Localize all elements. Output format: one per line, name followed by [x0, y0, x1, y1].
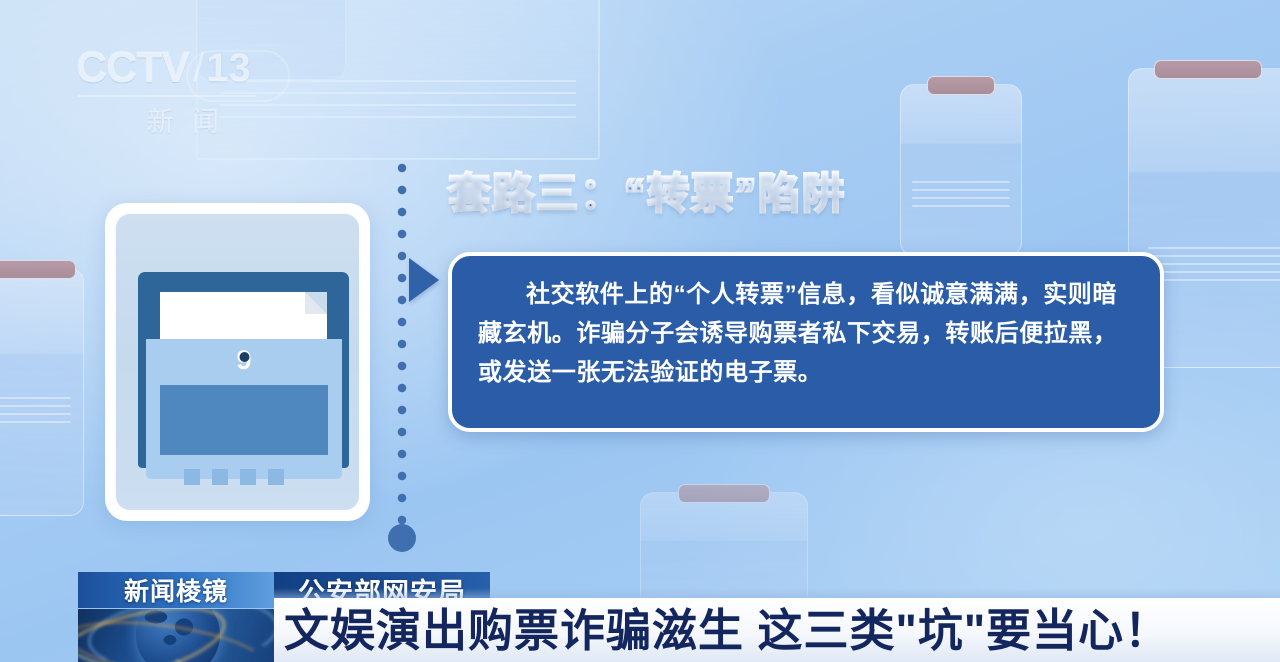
title-bar-shadow — [274, 588, 1280, 598]
triangle-pointer-icon — [409, 258, 439, 302]
broadcast-frame: CCTV / 13 新闻 9 套路三：“转票”陷阱 社交软件上的“个人转票”信息… — [0, 0, 1280, 662]
explanation-text: 社交软件上的“个人转票”信息，看似诚意满满，实则暗藏玄机。诈骗分子会诱导购票者私… — [478, 276, 1134, 393]
folder-front-shape: 9 — [146, 339, 342, 479]
watermark-cctv-text: CCTV — [76, 44, 189, 93]
globe-graphic — [78, 609, 274, 662]
explanation-panel: 社交软件上的“个人转票”信息，看似诚意满满，实则暗藏玄机。诈骗分子会诱导购票者私… — [448, 252, 1164, 432]
watermark-oval-shape — [186, 50, 290, 102]
folder-badge-number: 9 — [236, 347, 251, 374]
cctv13-watermark-logo: CCTV / 13 新闻 — [76, 44, 286, 138]
main-title-text: 文娱演出购票诈骗滋生 这三类"坑"要当心！ — [274, 608, 1170, 653]
folder-illustration-card: 9 — [105, 203, 370, 521]
watermark-subtitle: 新闻 — [76, 100, 286, 139]
folder-stripe — [160, 385, 328, 455]
folder-dot-row — [184, 469, 284, 485]
folder-illustration-inner: 9 — [114, 212, 361, 512]
lower-third-banner: 新闻棱镜 公安部网安局 文娱演出购票诈骗滋生 这三类"坑"要当心！ — [0, 562, 1280, 662]
dotted-connector-line — [396, 162, 408, 536]
section-headline: 套路三：“转票”陷阱 — [448, 172, 846, 216]
clipboard-clip-icon — [1154, 60, 1262, 79]
background-clipboard-decor — [900, 84, 1022, 256]
main-title-bar: 文娱演出购票诈骗滋生 这三类"坑"要当心！ — [274, 598, 1280, 662]
background-clipboard-decor — [0, 268, 84, 516]
clipboard-clip-icon — [678, 484, 770, 503]
program-tag: 新闻棱镜 — [78, 572, 274, 608]
clipboard-clip-icon — [0, 260, 76, 279]
dotted-connector-end-dot — [388, 524, 416, 552]
clipboard-clip-icon — [927, 76, 995, 95]
